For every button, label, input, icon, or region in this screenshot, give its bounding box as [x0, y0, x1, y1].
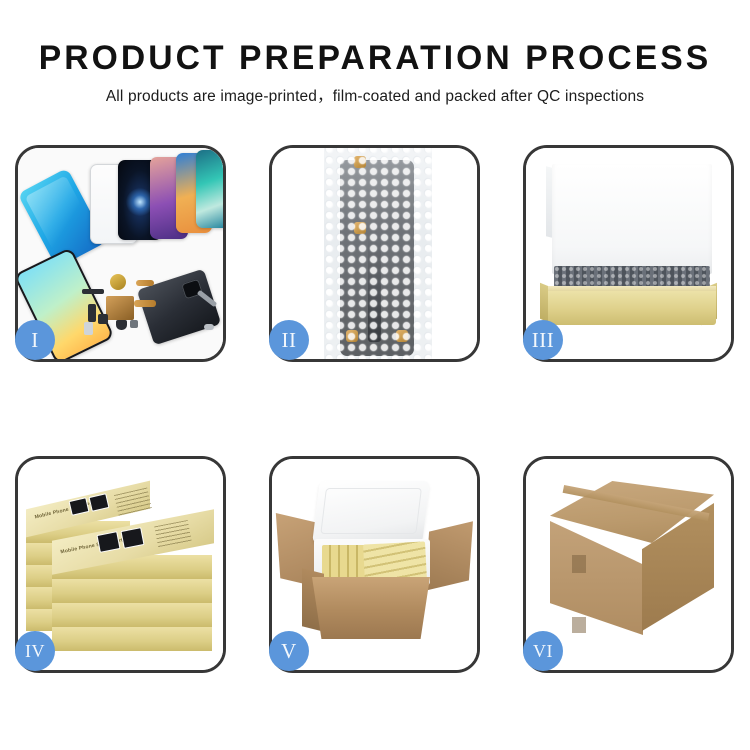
packed-boxes-row2-icon [363, 541, 427, 582]
stacked-box-fr-3 [52, 603, 212, 627]
process-step-panel-2[interactable]: II [269, 145, 480, 362]
step-badge-2: II [269, 320, 309, 360]
step-numeral-2: II [282, 330, 297, 351]
tweezers-tool-icon [204, 324, 214, 330]
step-numeral-1: I [31, 330, 39, 351]
process-steps-grid: I II [15, 145, 735, 673]
carton-seam-upper-icon [572, 555, 586, 573]
stacked-box-fr-2 [52, 579, 212, 603]
page-subtitle: All products are image-printed，film-coat… [0, 86, 750, 108]
ribbon-cable-part-icon [134, 300, 156, 307]
camera-module-part-icon [88, 304, 96, 322]
process-step-panel-6[interactable]: VI [523, 456, 734, 673]
step-badge-4: IV [15, 631, 55, 671]
step-numeral-4: IV [25, 642, 45, 660]
page-header: PRODUCT PREPARATION PROCESS All products… [0, 0, 750, 108]
box-stack-icon: Mobile Phone Spare Parts Mobile Phone Sp… [24, 477, 223, 662]
white-box-lid-icon [552, 164, 712, 274]
step-badge-3: III [523, 320, 563, 360]
connector-tape-left-icon [346, 330, 358, 342]
step-numeral-6: VI [533, 642, 553, 660]
connector-tape-right-icon [396, 330, 408, 342]
step-numeral-3: III [532, 330, 554, 351]
speaker-part-icon [98, 314, 108, 324]
stacked-box-fr-4 [52, 627, 212, 651]
process-step-panel-1[interactable]: I [15, 145, 226, 362]
process-step-panel-3[interactable]: III [523, 145, 734, 362]
green-phone-icon [196, 150, 223, 228]
wrapped-flex-cable-icon [368, 232, 381, 342]
page-title: PRODUCT PREPARATION PROCESS [4, 38, 747, 78]
screw-part-icon [130, 320, 138, 328]
step-badge-5: V [269, 631, 309, 671]
bubble-wrap-bag-icon [324, 148, 432, 359]
circuit-board-part-icon [106, 296, 134, 320]
step-badge-1: I [15, 320, 55, 360]
flex-strip-part-icon [82, 289, 104, 294]
step-badge-6: VI [523, 631, 563, 671]
connector-tape-mid-icon [354, 222, 366, 234]
foam-lid-icon [312, 481, 430, 543]
step-numeral-5: V [281, 641, 297, 662]
connector-part-icon [136, 280, 154, 286]
process-step-panel-4[interactable]: Mobile Phone Spare Parts Mobile Phone Sp… [15, 456, 226, 673]
carton-seam-lower-icon [572, 617, 586, 633]
vibrator-part-icon [116, 320, 127, 330]
sim-tray-part-icon [84, 322, 93, 335]
gold-coil-part-icon [110, 274, 126, 290]
process-step-panel-5[interactable]: V [269, 456, 480, 673]
carton-front-icon [312, 577, 430, 639]
yellow-box-front-icon [548, 291, 716, 325]
connector-tape-top-icon [354, 156, 366, 168]
carton-right-flap-icon [425, 521, 473, 590]
